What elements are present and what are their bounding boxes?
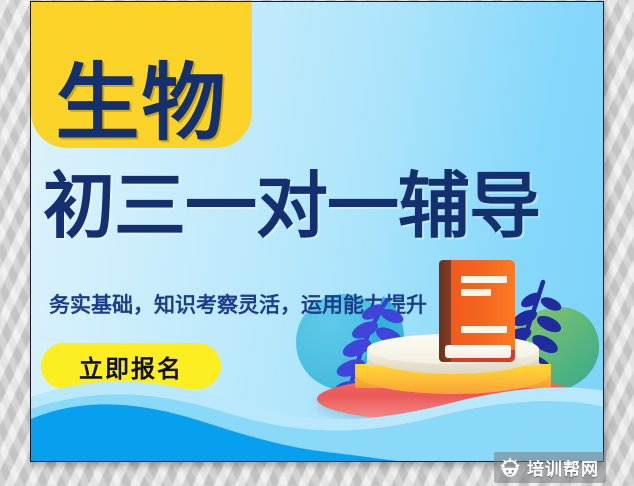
book-text-line [461,289,491,296]
banner-artboard: 生物 初三一对一辅导 务实基础，知识考察灵活，运用能力提升 立即报名 [30,1,604,462]
banner-root: 生物 初三一对一辅导 务实基础，知识考察灵活，运用能力提升 立即报名 [0,0,634,486]
watermark: 培训帮网 [494,452,606,483]
book-text-line [461,276,507,283]
bottom-waves [31,357,604,461]
book-text-line [461,326,507,333]
watermark-label: 培训帮网 [527,455,599,480]
headline: 初三一对一辅导 [43,170,595,242]
subject-badge-label: 生物 [55,62,227,144]
sun-face-icon [499,457,521,479]
subject-badge: 生物 [31,1,252,148]
book-icon [439,260,515,362]
